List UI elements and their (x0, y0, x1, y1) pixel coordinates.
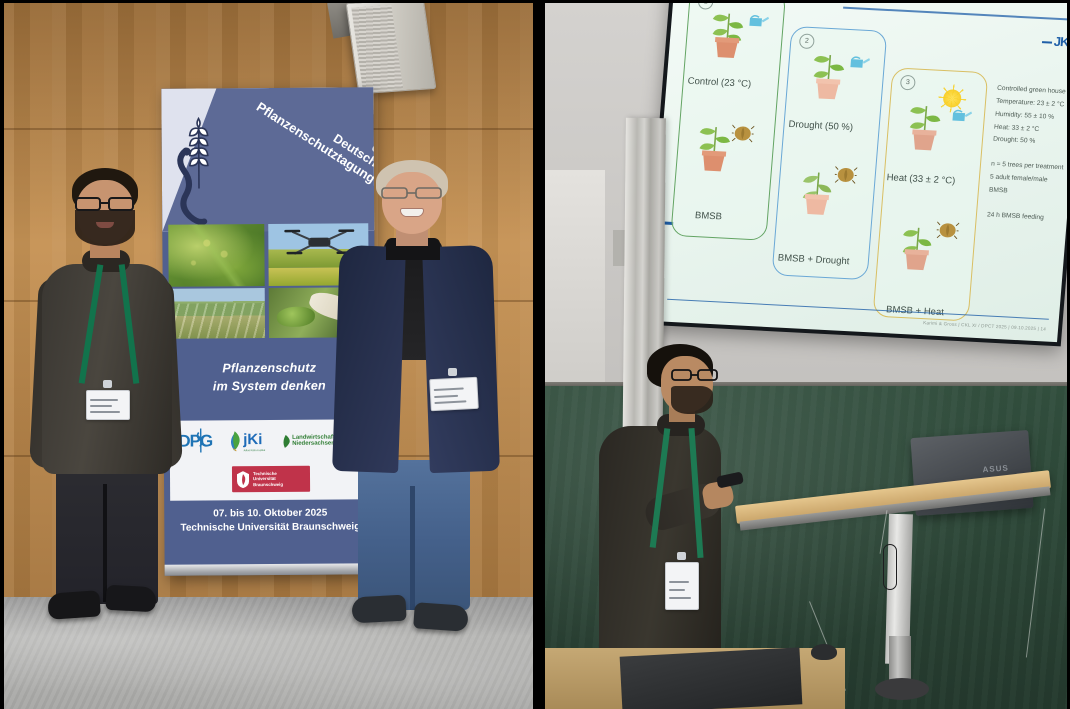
jki-logo: jKi Julius Kühn-Institut (229, 430, 265, 452)
watering-can-icon (746, 13, 769, 30)
slide-info-column: Controlled green house Temperature: 23 ±… (986, 83, 1070, 226)
rail-bracket (613, 230, 625, 266)
lecture-hall-presentation-photo: ...tal design JKI 1 (545, 0, 1070, 709)
panel-top-label: Heat (33 ± 2 °C) (886, 172, 956, 187)
trousers (56, 464, 158, 604)
speaker-grille (351, 5, 403, 91)
slide-bottom-rule (667, 298, 1049, 319)
cable-coil (883, 544, 897, 590)
jki-brand-logo: JKI (1041, 33, 1070, 49)
conference-badge (665, 562, 699, 610)
dpg-logo: DPG (178, 431, 212, 451)
trouser-seam (103, 484, 107, 602)
badge-clip (448, 368, 457, 376)
stink-bug-icon (936, 221, 959, 240)
jki-leaf-icon (229, 430, 242, 452)
lectern-column-lower (889, 636, 911, 682)
diseased-leaf-photo (168, 224, 264, 287)
wall-speaker-icon (346, 0, 437, 94)
panel-bottom-label: BMSB + Drought (777, 252, 849, 267)
jki-logo-label: jKi (243, 431, 262, 448)
projection-screen: ...tal design JKI 1 (647, 0, 1070, 342)
shoe-left (351, 595, 406, 624)
shoe-right (413, 602, 469, 632)
blazer-right-panel (422, 245, 500, 473)
watering-can-icon (949, 107, 972, 124)
conference-badge (86, 390, 130, 420)
glasses-icon (75, 196, 135, 211)
lectern-base (875, 678, 929, 700)
conference-banner-photo: 64. Deutsche Pflanzenschutztagung (0, 0, 533, 709)
treatment-panel-heat: 3 Heat (33 ± 2 °C) (872, 67, 988, 321)
sweater (42, 264, 172, 474)
blazer-left-panel (332, 245, 406, 473)
jeans-seam (410, 486, 415, 610)
slide-top-rule (843, 7, 1070, 22)
frame-edge-left (0, 0, 4, 709)
photo-collage: 64. Deutsche Pflanzenschutztagung (0, 0, 1070, 709)
aerial-farmland-photo (169, 288, 265, 339)
treatment-panel-control: 1 Control (23 °C (670, 0, 786, 241)
tu-braunschweig-crest-icon (236, 471, 250, 488)
projection-screen-frame: ...tal design JKI 1 (643, 0, 1070, 346)
beard (75, 210, 135, 246)
person-left (30, 168, 180, 638)
potted-plant-icon (901, 95, 950, 155)
stink-bug-icon (834, 165, 857, 184)
panel-bottom-label: BMSB (695, 210, 723, 222)
lwk-leaf-icon (282, 434, 291, 447)
mouth (400, 208, 424, 217)
watering-can-icon (847, 54, 870, 71)
jki-logo-subtitle: Julius Kühn-Institut (243, 449, 265, 452)
dpg-snake-icon (195, 426, 205, 454)
computer-mouse (811, 644, 837, 660)
slide-footer-text: Karimi & Gross | CKL XI / DPCT 2025 | 09… (923, 320, 1046, 331)
potted-plant-icon (703, 3, 752, 63)
laptop-brand-label: ASUS (982, 463, 1009, 474)
panel-top-label: Drought (50 %) (788, 119, 853, 133)
panel-number: 3 (900, 75, 916, 91)
frame-edge-top (0, 0, 1070, 3)
motto-line1: Pflanzenschutz (222, 361, 316, 376)
shoe-left (47, 590, 101, 620)
glasses-icon (381, 186, 443, 200)
shoe-right (105, 585, 156, 613)
tub-logo-line3: Braunschweig (253, 482, 283, 488)
person-right (330, 160, 500, 640)
treatment-panel-drought: 2 Drought (50 %) (771, 26, 887, 280)
desk-monitor-back (620, 647, 803, 709)
jki-dash-icon (1042, 41, 1052, 44)
potted-plant-icon (804, 44, 853, 104)
badge-clip (677, 552, 686, 560)
potted-plant-icon (893, 215, 942, 275)
panel-top-label: Control (23 °C) (687, 76, 751, 90)
beard (671, 386, 713, 414)
photo-divider (533, 0, 545, 709)
conference-badge (429, 377, 479, 411)
tu-braunschweig-logo: Technische Universität Braunschweig (232, 466, 310, 493)
badge-clip (103, 380, 112, 388)
glasses-icon (671, 368, 719, 382)
cable (1026, 508, 1045, 657)
face (382, 172, 442, 234)
motto-line2: im System denken (213, 379, 326, 394)
stink-bug-icon (731, 124, 754, 143)
